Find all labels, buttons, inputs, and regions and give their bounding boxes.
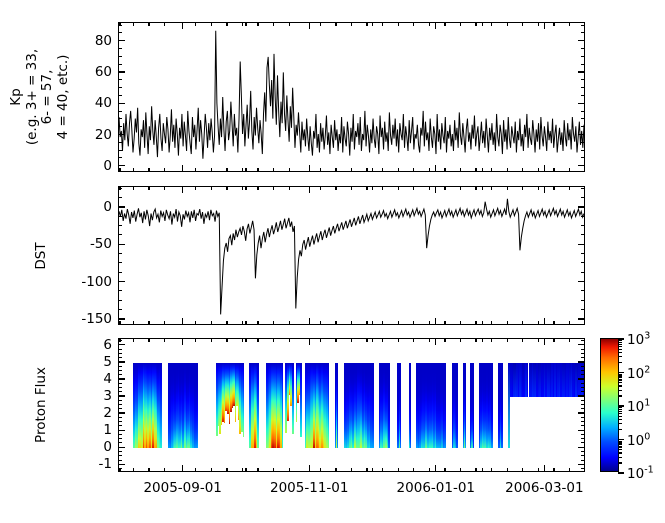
y-tick-minor <box>118 56 122 57</box>
x-tick-minor <box>366 468 367 472</box>
y-tick-minor <box>118 366 122 367</box>
y-tick-label: 6 <box>103 337 112 353</box>
x-tick-minor <box>119 321 120 325</box>
x-tick-major <box>309 22 310 29</box>
x-tick-minor <box>429 321 430 325</box>
colorbar-tick-label: 10-1 <box>627 464 654 482</box>
x-tick-major <box>435 165 436 172</box>
heatmap-column <box>465 363 466 448</box>
colorbar-tick-minor <box>618 344 622 345</box>
y-tick-minor <box>118 404 122 405</box>
x-tick-minor <box>507 22 508 26</box>
y-tick-minor <box>118 451 122 452</box>
colorbar-tick-minor <box>618 382 622 383</box>
y-tick-minor <box>118 87 122 88</box>
x-tick-minor <box>289 338 290 342</box>
x-tick-minor <box>211 338 212 342</box>
y-tick-major <box>118 40 125 41</box>
y-tick-minor <box>118 157 122 158</box>
proton-flux-heatmap <box>119 339 584 471</box>
x-tick-minor <box>475 468 476 472</box>
x-tick-minor <box>133 468 134 472</box>
y-tick-minor <box>118 408 122 409</box>
heatmap-column <box>197 363 199 448</box>
colorbar-tick-minor <box>618 429 622 430</box>
dst-trace-svg <box>119 187 584 324</box>
y-tick-minor <box>581 438 585 439</box>
x-tick-minor <box>482 468 483 472</box>
x-tick-minor <box>482 22 483 26</box>
x-tick-minor <box>119 186 120 190</box>
y-tick-minor <box>118 455 122 456</box>
y-tick-minor <box>581 79 585 80</box>
x-tick-minor <box>460 22 461 26</box>
x-tick-minor <box>226 186 227 190</box>
x-tick-minor <box>164 186 165 190</box>
x-tick-major <box>435 465 436 472</box>
x-tick-minor <box>164 321 165 325</box>
y-tick-minor <box>581 357 585 358</box>
x-tick-minor <box>475 321 476 325</box>
y-tick-minor <box>118 421 122 422</box>
dst-panel <box>118 186 585 325</box>
x-tick-minor <box>273 338 274 342</box>
y-tick-minor <box>118 272 122 273</box>
y-tick-minor <box>118 118 122 119</box>
y-tick-label: 3 <box>103 388 112 404</box>
y-tick-minor <box>581 118 585 119</box>
x-tick-major <box>309 186 310 193</box>
y-tick-minor <box>581 366 585 367</box>
heatmap-column <box>257 363 259 448</box>
y-tick-major <box>578 344 585 345</box>
y-tick-minor <box>118 216 122 217</box>
x-tick-minor <box>273 321 274 325</box>
x-tick-minor <box>366 168 367 172</box>
x-tick-minor <box>372 168 373 172</box>
figure-canvas: 020406080 Kp (e.g. 3+ = 33, 6- = 57, 4 =… <box>0 0 665 523</box>
heatmap-column <box>243 363 245 437</box>
x-tick-minor <box>507 321 508 325</box>
dst-trace <box>119 187 584 324</box>
y-tick-minor <box>581 442 585 443</box>
kp-trace <box>119 23 584 171</box>
colorbar-tick-minor <box>618 462 622 463</box>
x-tick-minor <box>482 321 483 325</box>
x-tick-minor <box>522 468 523 472</box>
x-tick-minor <box>245 468 246 472</box>
x-tick-minor <box>413 22 414 26</box>
y-tick-minor <box>581 408 585 409</box>
x-tick-minor <box>242 186 243 190</box>
x-tick-minor <box>482 168 483 172</box>
x-tick-label: 2006-03-01 <box>505 480 583 496</box>
proton-flux-panel <box>118 338 585 472</box>
x-tick-minor <box>522 338 523 342</box>
kp-trace-svg <box>119 23 584 171</box>
y-tick-minor <box>118 370 122 371</box>
colorbar-gradient <box>601 339 618 471</box>
x-tick-minor <box>273 468 274 472</box>
colorbar-tick-minor <box>618 457 622 458</box>
y-tick-minor <box>118 32 122 33</box>
x-tick-minor <box>257 22 258 26</box>
y-tick-minor <box>118 262 122 263</box>
x-tick-minor <box>491 321 492 325</box>
y-tick-major <box>118 71 125 72</box>
x-tick-major <box>309 338 310 345</box>
heatmap-column <box>300 363 302 437</box>
x-tick-minor <box>413 321 414 325</box>
y-tick-major <box>578 134 585 135</box>
colorbar-tick-minor <box>618 375 622 376</box>
colorbar-tick-minor <box>618 352 622 353</box>
y-tick-minor <box>118 357 122 358</box>
y-tick-minor <box>118 434 122 435</box>
x-tick-minor <box>148 186 149 190</box>
x-tick-minor <box>195 168 196 172</box>
colorbar-tick-minor <box>618 349 622 350</box>
x-tick-minor <box>148 321 149 325</box>
x-tick-minor <box>413 186 414 190</box>
kp-axis-title-line-2: (e.g. 3+ = 33, <box>24 49 40 145</box>
y-tick-minor <box>581 455 585 456</box>
colorbar-tick-minor <box>618 385 622 386</box>
y-tick-minor <box>581 400 585 401</box>
colorbar-tick-minor <box>618 377 622 378</box>
y-tick-minor <box>581 87 585 88</box>
y-tick-label: 1 <box>103 422 112 438</box>
colorbar-tick-minor <box>618 374 622 375</box>
colorbar-tick-minor <box>618 413 622 414</box>
y-tick-major <box>578 447 585 448</box>
y-tick-minor <box>581 111 585 112</box>
y-tick-minor <box>581 95 585 96</box>
x-tick-major <box>182 318 183 325</box>
colorbar-tick-minor <box>618 409 622 410</box>
y-tick-minor <box>581 451 585 452</box>
y-tick-minor <box>118 391 122 392</box>
x-tick-minor <box>444 321 445 325</box>
heatmap-column <box>501 363 503 448</box>
x-tick-minor <box>538 321 539 325</box>
x-tick-major <box>544 22 545 29</box>
x-tick-minor <box>211 321 212 325</box>
y-tick-minor <box>581 48 585 49</box>
heatmap-column <box>508 363 511 448</box>
colorbar-tick-minor <box>618 416 622 417</box>
x-tick-minor <box>133 168 134 172</box>
dst-axis-title: DST <box>34 242 50 269</box>
x-tick-major <box>544 465 545 472</box>
x-tick-minor <box>475 186 476 190</box>
x-tick-minor <box>289 168 290 172</box>
x-tick-minor <box>320 22 321 26</box>
data-line <box>119 31 584 159</box>
x-tick-minor <box>429 338 430 342</box>
y-tick-minor <box>118 300 122 301</box>
x-tick-minor <box>320 338 321 342</box>
x-tick-minor <box>133 186 134 190</box>
x-tick-minor <box>335 22 336 26</box>
x-tick-minor <box>569 186 570 190</box>
y-tick-minor <box>581 340 585 341</box>
x-tick-major <box>544 338 545 345</box>
x-tick-minor <box>289 22 290 26</box>
y-tick-label: 0 <box>103 199 112 215</box>
x-tick-minor <box>475 22 476 26</box>
colorbar-tick-label: 102 <box>627 364 650 382</box>
x-tick-minor <box>351 338 352 342</box>
x-tick-minor <box>133 22 134 26</box>
x-tick-minor <box>553 321 554 325</box>
x-tick-label: 2006-01-01 <box>397 480 475 496</box>
x-tick-minor <box>351 168 352 172</box>
x-tick-major <box>309 165 310 172</box>
x-tick-minor <box>382 321 383 325</box>
x-tick-minor <box>119 22 120 26</box>
colorbar: 10-1100101102103 <box>600 338 619 472</box>
x-tick-minor <box>148 468 149 472</box>
x-tick-minor <box>226 338 227 342</box>
y-tick-minor <box>581 391 585 392</box>
x-tick-minor <box>507 338 508 342</box>
x-tick-minor <box>553 338 554 342</box>
y-tick-major <box>118 430 125 431</box>
x-tick-minor <box>372 186 373 190</box>
x-tick-minor <box>372 321 373 325</box>
x-tick-minor <box>460 338 461 342</box>
y-tick-label: 60 <box>95 64 112 80</box>
proton-flux-axis-title: Proton Flux <box>34 367 50 443</box>
x-tick-minor <box>398 321 399 325</box>
y-tick-minor <box>581 300 585 301</box>
x-tick-minor <box>522 168 523 172</box>
x-tick-minor <box>366 321 367 325</box>
data-line <box>119 199 584 315</box>
x-tick-minor <box>366 338 367 342</box>
y-tick-minor <box>581 126 585 127</box>
colorbar-tick-label: 103 <box>627 330 650 348</box>
y-tick-label: -100 <box>81 274 112 290</box>
x-tick-minor <box>195 321 196 325</box>
x-tick-minor <box>522 321 523 325</box>
x-tick-minor <box>148 168 149 172</box>
kp-panel <box>118 22 585 172</box>
x-tick-minor <box>444 168 445 172</box>
x-tick-minor <box>382 22 383 26</box>
x-tick-minor <box>257 338 258 342</box>
y-tick-minor <box>118 111 122 112</box>
heatmap-column <box>292 363 294 434</box>
y-tick-minor <box>118 197 122 198</box>
y-tick-major <box>578 281 585 282</box>
y-tick-minor <box>581 157 585 158</box>
colorbar-tick-minor <box>618 340 622 341</box>
y-tick-major <box>118 281 125 282</box>
kp-axis-title-line-4: 4 = 40, etc.) <box>56 49 72 145</box>
heatmap-column <box>160 363 162 448</box>
y-tick-major <box>118 464 125 465</box>
colorbar-tick-minor <box>618 449 622 450</box>
heatmap-column <box>372 363 374 448</box>
y-tick-minor <box>581 404 585 405</box>
colorbar-tick-minor <box>618 419 622 420</box>
x-tick-minor <box>119 338 120 342</box>
y-tick-minor <box>581 262 585 263</box>
x-tick-minor <box>553 168 554 172</box>
x-tick-minor <box>289 468 290 472</box>
y-tick-major <box>578 395 585 396</box>
colorbar-tick-minor <box>618 342 622 343</box>
x-tick-minor <box>335 186 336 190</box>
y-tick-minor <box>581 197 585 198</box>
y-tick-minor <box>581 216 585 217</box>
colorbar-tick-minor <box>618 390 622 391</box>
y-tick-major <box>578 318 585 319</box>
x-tick-minor <box>273 22 274 26</box>
x-tick-minor <box>148 22 149 26</box>
x-tick-minor <box>460 321 461 325</box>
x-tick-minor <box>491 338 492 342</box>
x-tick-minor <box>382 168 383 172</box>
y-tick-major <box>578 40 585 41</box>
heatmap-column <box>282 363 284 448</box>
y-tick-minor <box>118 64 122 65</box>
x-tick-minor <box>211 468 212 472</box>
x-tick-minor <box>429 468 430 472</box>
y-tick-minor <box>581 349 585 350</box>
y-tick-minor <box>118 309 122 310</box>
x-tick-minor <box>491 22 492 26</box>
colorbar-tick-minor <box>618 452 622 453</box>
x-tick-minor <box>273 186 274 190</box>
y-tick-minor <box>118 460 122 461</box>
x-tick-major <box>182 165 183 172</box>
x-tick-minor <box>335 468 336 472</box>
y-tick-minor <box>118 48 122 49</box>
x-tick-minor <box>460 468 461 472</box>
x-tick-minor <box>398 468 399 472</box>
x-tick-minor <box>398 186 399 190</box>
x-tick-minor <box>475 168 476 172</box>
y-tick-minor <box>581 25 585 26</box>
y-tick-major <box>578 165 585 166</box>
x-tick-minor <box>242 468 243 472</box>
colorbar-tick-minor <box>618 379 622 380</box>
x-tick-major <box>309 318 310 325</box>
y-tick-minor <box>118 349 122 350</box>
colorbar-tick-minor <box>618 407 622 408</box>
x-tick-minor <box>351 22 352 26</box>
x-tick-minor <box>475 338 476 342</box>
x-tick-minor <box>226 321 227 325</box>
y-tick-major <box>118 412 125 413</box>
x-tick-minor <box>211 186 212 190</box>
y-tick-minor <box>581 290 585 291</box>
colorbar-tick-minor <box>618 446 622 447</box>
y-tick-minor <box>581 374 585 375</box>
x-tick-minor <box>245 168 246 172</box>
x-tick-minor <box>460 186 461 190</box>
x-tick-minor <box>351 468 352 472</box>
y-tick-minor <box>581 383 585 384</box>
heatmap-column <box>473 363 474 448</box>
x-tick-minor <box>195 186 196 190</box>
x-tick-minor <box>382 338 383 342</box>
x-tick-minor <box>444 468 445 472</box>
x-tick-minor <box>242 22 243 26</box>
x-tick-minor <box>164 22 165 26</box>
y-tick-major <box>578 206 585 207</box>
y-tick-minor <box>118 79 122 80</box>
x-tick-minor <box>413 468 414 472</box>
x-tick-minor <box>569 321 570 325</box>
x-tick-minor <box>491 468 492 472</box>
x-tick-major <box>544 186 545 193</box>
y-tick-minor <box>581 56 585 57</box>
x-tick-minor <box>320 168 321 172</box>
x-tick-minor <box>569 338 570 342</box>
y-tick-major <box>578 103 585 104</box>
x-tick-minor <box>538 338 539 342</box>
heatmap-column <box>328 363 330 448</box>
y-tick-minor <box>118 225 122 226</box>
x-tick-minor <box>366 186 367 190</box>
x-tick-minor <box>522 186 523 190</box>
x-tick-major <box>544 318 545 325</box>
x-tick-minor <box>366 22 367 26</box>
x-tick-minor <box>482 186 483 190</box>
x-tick-minor <box>382 468 383 472</box>
x-tick-minor <box>491 186 492 190</box>
x-tick-minor <box>429 168 430 172</box>
colorbar-tick-minor <box>618 441 622 442</box>
y-tick-minor <box>581 234 585 235</box>
x-tick-minor <box>569 168 570 172</box>
y-tick-label: 0 <box>103 439 112 455</box>
x-tick-minor <box>226 22 227 26</box>
y-tick-minor <box>581 32 585 33</box>
x-tick-minor <box>351 186 352 190</box>
y-tick-label: 4 <box>103 371 112 387</box>
y-tick-minor <box>118 374 122 375</box>
x-tick-minor <box>245 186 246 190</box>
colorbar-tick-label: 101 <box>627 397 650 415</box>
y-tick-major <box>578 378 585 379</box>
y-tick-major <box>118 378 125 379</box>
x-tick-minor <box>429 186 430 190</box>
y-tick-minor <box>118 417 122 418</box>
x-tick-major <box>182 186 183 193</box>
y-tick-minor <box>118 400 122 401</box>
x-tick-major <box>182 465 183 472</box>
x-tick-minor <box>245 22 246 26</box>
x-tick-minor <box>164 468 165 472</box>
x-tick-minor <box>242 168 243 172</box>
x-tick-minor <box>211 168 212 172</box>
colorbar-tick-minor <box>618 444 622 445</box>
x-tick-major <box>435 338 436 345</box>
y-tick-minor <box>118 387 122 388</box>
y-tick-minor <box>581 460 585 461</box>
heatmap-column <box>456 363 458 448</box>
y-tick-major <box>118 206 125 207</box>
y-tick-major <box>118 361 125 362</box>
x-tick-minor <box>351 321 352 325</box>
y-tick-minor <box>581 425 585 426</box>
heatmap-column <box>410 363 411 448</box>
